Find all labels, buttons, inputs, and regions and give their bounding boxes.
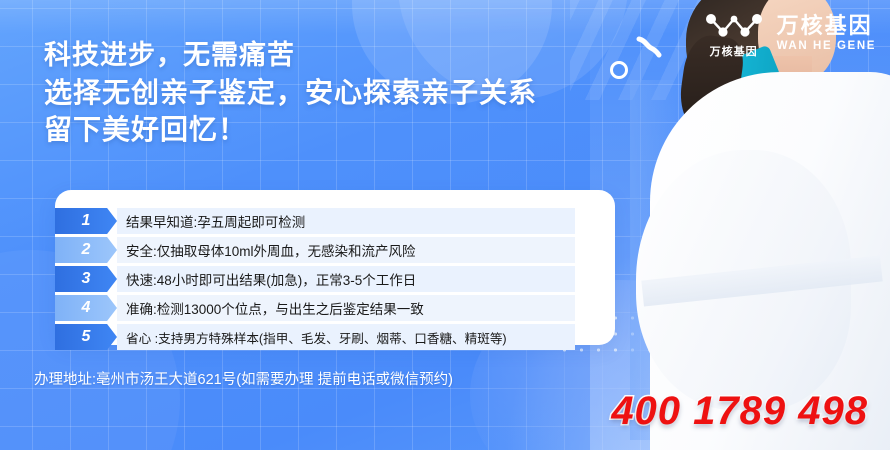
logo-name-cn: 万核基因 [777, 15, 876, 37]
headline-line-1: 科技进步，无需痛苦 [44, 38, 537, 74]
feature-number-badge: 3 [55, 266, 117, 292]
list-item: 3 快速:48小时即可出结果(加急)，正常3-5个工作日 [55, 266, 575, 292]
headline-separator: ， [156, 40, 183, 70]
logo-mark: 万核基因 [703, 10, 765, 58]
brand-logo[interactable]: 万核基因 万核基因 WAN HE GENE [703, 10, 876, 58]
promo-banner: 万核基因 万核基因 WAN HE GENE 科技进步，无需痛苦 选择无创亲子鉴定… [0, 0, 890, 450]
headline-line-1-part-b: 无需痛苦 [183, 40, 295, 70]
feature-number-badge: 4 [55, 295, 117, 321]
molecule-nodes-icon [703, 10, 765, 45]
feature-list: 1 结果早知道:孕五周起即可检测 2 安全:仅抽取母体10ml外周血，无感染和流… [55, 208, 575, 353]
list-item: 4 准确:检测13000个位点，与出生之后鉴定结果一致 [55, 295, 575, 321]
feature-text: 省心 :支持男方特殊样本(指甲、毛发、牙刷、烟蒂、口香糖、精斑等) [117, 324, 575, 350]
list-item: 1 结果早知道:孕五周起即可检测 [55, 208, 575, 234]
list-item: 2 安全:仅抽取母体10ml外周血，无感染和流产风险 [55, 237, 575, 263]
headline-line-3: 留下美好回忆！ [44, 111, 537, 148]
feature-number-badge: 2 [55, 237, 117, 263]
headline-line-2: 选择无创亲子鉴定，安心探索亲子关系 [44, 74, 537, 111]
list-item: 5 省心 :支持男方特殊样本(指甲、毛发、牙刷、烟蒂、口香糖、精斑等) [55, 324, 575, 350]
headline-block: 科技进步，无需痛苦 选择无创亲子鉴定，安心探索亲子关系 留下美好回忆！ [44, 38, 537, 148]
logo-name-en: WAN HE GENE [777, 41, 876, 53]
pregnant-woman-photo [590, 0, 890, 450]
feature-text: 安全:仅抽取母体10ml外周血，无感染和流产风险 [117, 237, 575, 263]
logo-wordmark: 万核基因 WAN HE GENE [777, 15, 876, 53]
feature-text: 快速:48小时即可出结果(加急)，正常3-5个工作日 [117, 266, 575, 292]
office-address: 办理地址:亳州市汤王大道621号(如需要办理 提前电话或微信预约) [34, 368, 453, 389]
feature-text: 结果早知道:孕五周起即可检测 [117, 208, 575, 234]
logo-mark-caption: 万核基因 [710, 47, 758, 58]
feature-number-badge: 1 [55, 208, 117, 234]
headline-line-1-part-a: 科技进步 [44, 40, 156, 70]
feature-number-badge: 5 [55, 324, 117, 350]
feature-text: 准确:检测13000个位点，与出生之后鉴定结果一致 [117, 295, 575, 321]
hotline-phone-number[interactable]: 400 1789 498 [611, 389, 868, 434]
